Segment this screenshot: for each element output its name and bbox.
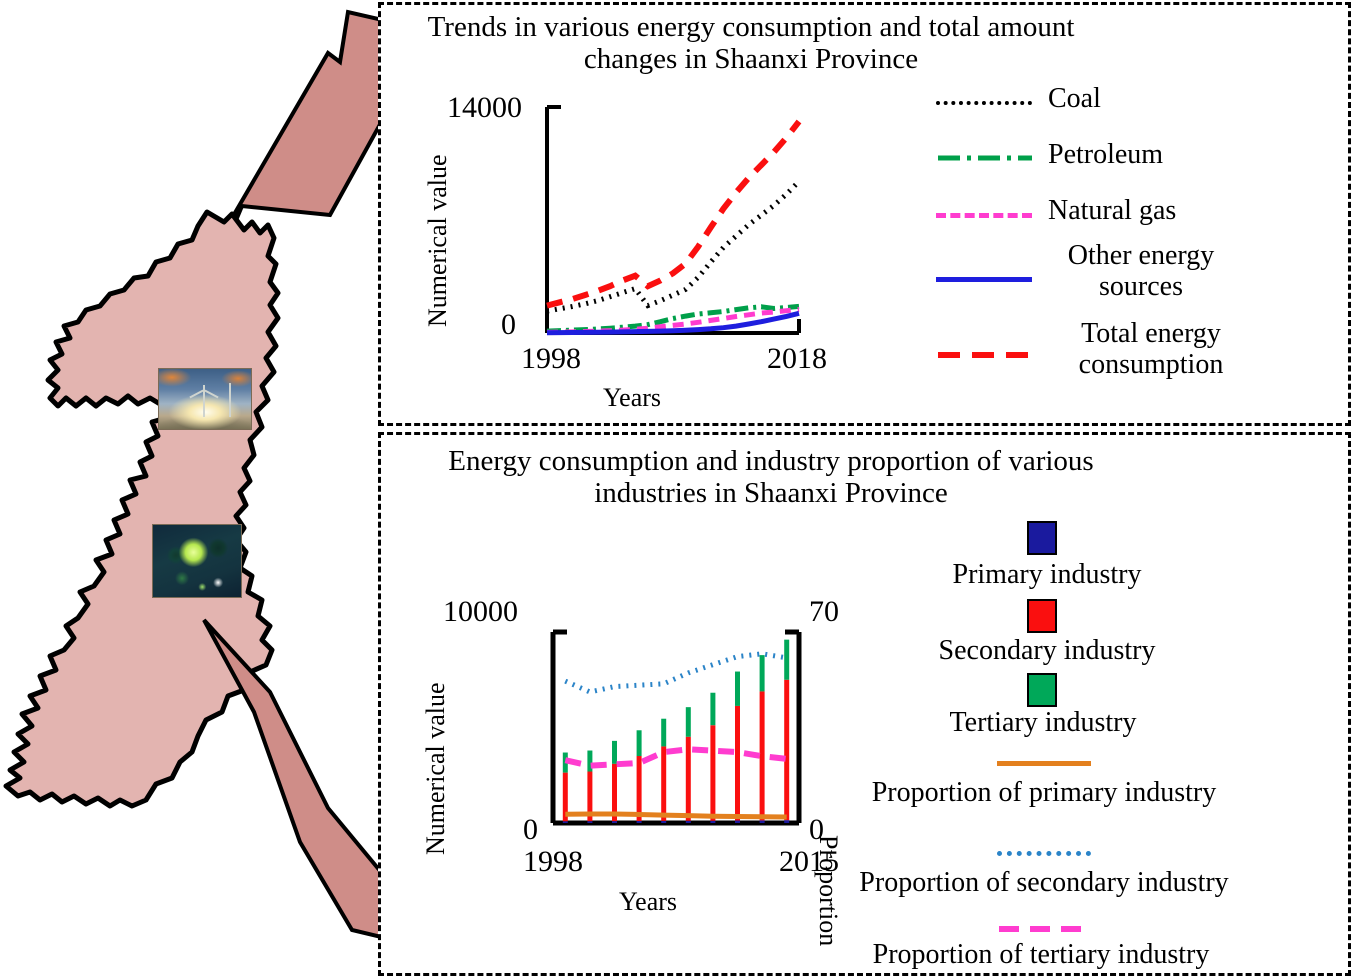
bottom-chart-ytick-max: 10000 bbox=[443, 595, 518, 629]
bottom-chart-plot bbox=[541, 610, 831, 860]
top-chart-panel: Trends in various energy consumption and… bbox=[378, 2, 1351, 426]
legend-swatch-proportion-secondary bbox=[997, 851, 1091, 856]
legend-swatch-secondary-industry bbox=[1027, 599, 1057, 633]
green-energy-photo bbox=[152, 524, 242, 598]
province-outline bbox=[6, 212, 278, 806]
top-chart-title: Trends in various energy consumption and… bbox=[401, 11, 1101, 76]
line-proportion-of-tertiary-industry bbox=[565, 749, 786, 765]
legend-swatch-proportion-tertiary bbox=[997, 925, 1093, 933]
legend-swatch-natural-gas bbox=[936, 213, 1032, 218]
top-series-total-energy-consumption bbox=[547, 122, 799, 306]
bottom-chart-title: Energy consumption and industry proporti… bbox=[391, 445, 1151, 510]
legend-label-secondary-industry: Secondary industry bbox=[887, 635, 1207, 667]
top-series-coal bbox=[547, 181, 799, 311]
top-chart-y-axis-label: Numerical value bbox=[423, 154, 453, 327]
bottom-chart-x-axis-label: Years bbox=[619, 887, 677, 917]
legend-swatch-coal bbox=[936, 101, 1032, 105]
top-chart-ytick-min: 0 bbox=[501, 308, 516, 342]
legend-label-total-energy: Total energy consumption bbox=[1036, 319, 1266, 381]
top-chart-ytick-max: 14000 bbox=[447, 91, 522, 125]
legend-label-proportion-secondary: Proportion of secondary industry bbox=[809, 867, 1279, 899]
top-chart-x-axis-label: Years bbox=[603, 383, 661, 413]
legend-label-natural-gas: Natural gas bbox=[1048, 195, 1176, 227]
shaanxi-map-panel bbox=[0, 0, 378, 978]
wind-energy-photo bbox=[158, 368, 252, 430]
legend-label-petroleum: Petroleum bbox=[1048, 139, 1163, 171]
legend-swatch-proportion-primary bbox=[997, 761, 1091, 766]
bottom-chart-y-axis-label: Numerical value bbox=[421, 682, 451, 855]
legend-label-coal: Coal bbox=[1048, 83, 1101, 115]
bottom-chart-panel: Energy consumption and industry proporti… bbox=[378, 432, 1351, 976]
legend-label-other-energy: Other energy sources bbox=[1036, 241, 1246, 303]
legend-label-proportion-primary: Proportion of primary industry bbox=[819, 777, 1269, 809]
map-graphic bbox=[0, 0, 378, 978]
line-proportion-of-secondary-industry bbox=[565, 654, 786, 692]
legend-swatch-petroleum bbox=[936, 155, 1034, 161]
legend-label-primary-industry: Primary industry bbox=[897, 559, 1197, 591]
legend-swatch-primary-industry bbox=[1027, 521, 1057, 555]
line-proportion-of-primary-industry bbox=[565, 814, 786, 817]
legend-swatch-tertiary-industry bbox=[1027, 673, 1057, 707]
top-chart-plot bbox=[531, 95, 831, 355]
top-chart-legend: Coal Petroleum Natural gas Other energy … bbox=[936, 83, 1336, 413]
legend-label-tertiary-industry: Tertiary industry bbox=[893, 707, 1193, 739]
legend-swatch-total-energy bbox=[936, 351, 1034, 359]
top-chart-axes bbox=[547, 107, 799, 333]
bottom-chart-ytick-min: 0 bbox=[523, 813, 538, 847]
legend-swatch-other-energy bbox=[936, 277, 1032, 282]
bottom-chart-legend: Primary industry Secondary industry Tert… bbox=[821, 521, 1341, 971]
legend-label-proportion-tertiary: Proportion of tertiary industry bbox=[821, 939, 1261, 971]
